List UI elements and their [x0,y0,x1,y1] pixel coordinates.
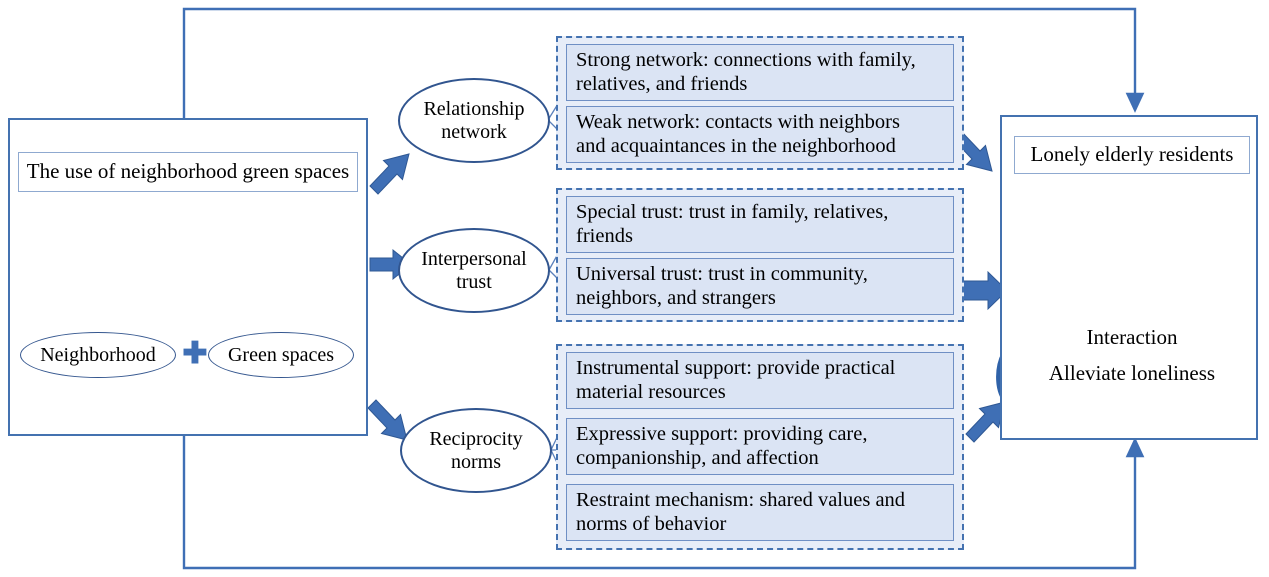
mediator-item-weak-network: Weak network: contacts with neighbors an… [566,106,954,163]
arrow-up-right-icon [370,154,409,194]
mediator-item-strong-network: Strong network: connections with family,… [566,44,954,101]
right-panel-heading-box: Lonely elderly residents [1014,136,1250,174]
component-ellipse-neighborhood: Neighborhood [20,332,176,378]
mediator-item-text: Special trust: trust in family, relative… [576,201,945,249]
mediator-item-universal-trust: Universal trust: trust in community, nei… [566,258,954,315]
component-label-green-spaces: Green spaces [228,344,334,367]
component-label-neighborhood: Neighborhood [40,344,156,367]
outcome-line-alleviate-loneliness: Alleviate loneliness [1026,362,1238,385]
plus-icon: ✚ [178,337,212,370]
left-panel-heading-box: The use of neighborhood green spaces [18,152,358,192]
mediator-item-text: Strong network: connections with family,… [576,49,945,97]
mediator-label-interpersonal-trust: Interpersonal trust [421,248,527,293]
mediator-ellipse-interpersonal-trust: Interpersonal trust [398,228,550,313]
arrow-down-right-icon [368,400,407,440]
mediator-label-reciprocity-norms: Reciprocity norms [429,428,522,473]
mediator-item-instrumental-support: Instrumental support: provide practical … [566,352,954,409]
diagram-canvas: The use of neighborhood green spaces Nei… [0,0,1269,577]
component-ellipse-green-spaces: Green spaces [208,332,354,378]
mediator-item-text: Expressive support: providing care, comp… [576,423,945,471]
mediator-item-text: Universal trust: trust in community, nei… [576,263,945,311]
mediator-ellipse-reciprocity-norms: Reciprocity norms [400,408,552,493]
mediator-ellipse-relationship-network: Relationship network [398,78,550,163]
mediator-item-restraint-mechanism: Restraint mechanism: shared values and n… [566,484,954,541]
outcome-line-interaction: Interaction [1036,326,1228,349]
mediator-label-relationship-network: Relationship network [423,98,524,143]
mediator-item-expressive-support: Expressive support: providing care, comp… [566,418,954,475]
mediator-item-text: Weak network: contacts with neighbors an… [576,111,945,159]
left-panel-heading: The use of neighborhood green spaces [27,160,349,183]
mediator-item-special-trust: Special trust: trust in family, relative… [566,196,954,253]
right-panel-heading: Lonely elderly residents [1031,143,1234,166]
mediator-item-text: Restraint mechanism: shared values and n… [576,489,945,537]
mediator-item-text: Instrumental support: provide practical … [576,357,945,405]
